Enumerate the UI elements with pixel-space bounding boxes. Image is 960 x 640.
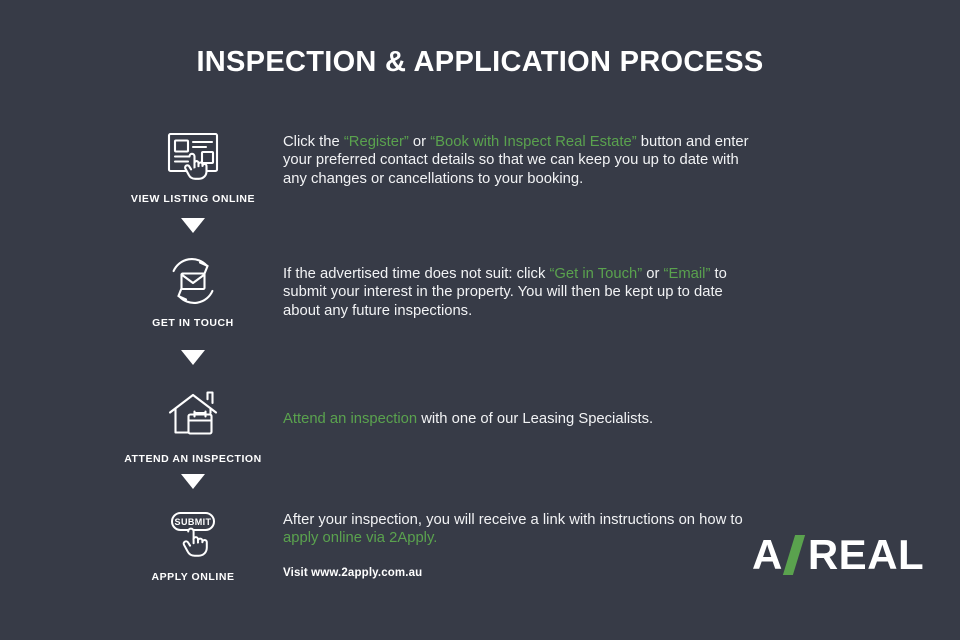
logo-letter-a: A — [752, 534, 783, 576]
down-triangle-arrow-1 — [118, 218, 268, 238]
process-infographic: INSPECTION & APPLICATION PROCESS — [0, 0, 960, 640]
step-4-text-part-0: After your inspection, you will receive … — [283, 512, 743, 528]
step-3-text: Attend an inspection with one of our Lea… — [283, 410, 763, 428]
step-2-text-part-1: “Get in Touch” — [549, 266, 642, 282]
logo-green-slash-icon — [783, 535, 805, 575]
down-triangle-arrow-glyph — [181, 474, 205, 489]
step-3-text-part-0: Attend an inspection — [283, 411, 417, 427]
step-1-text-part-1: “Register” — [344, 134, 409, 150]
step-4-text-part-1: apply online via 2Apply. — [283, 530, 437, 546]
step-3-label: ATTEND AN INSPECTION — [118, 453, 268, 465]
submit-button-pointer-icon: SUBMIT — [118, 506, 268, 562]
step-1-label: VIEW LISTING ONLINE — [118, 193, 268, 205]
listing-window-pointer-icon — [118, 128, 268, 184]
logo-word-real: REAL — [808, 534, 924, 576]
step-1-text-part-3: “Book with Inspect Real Estate” — [430, 134, 636, 150]
step-1-text-part-2: or — [409, 134, 430, 150]
step-2-icon-column: GET IN TOUCH — [118, 252, 268, 329]
step-2-text-part-0: If the advertised time does not suit: cl… — [283, 266, 549, 282]
step-4-text: After your inspection, you will receive … — [283, 511, 763, 580]
step-2-text-part-3: “Email” — [664, 266, 711, 282]
step-1-icon-column: VIEW LISTING ONLINE — [118, 128, 268, 205]
down-triangle-arrow-2 — [118, 350, 268, 370]
envelope-refresh-icon — [118, 252, 268, 308]
step-4-icon-column: SUBMIT APPLY ONLINE — [118, 506, 268, 583]
page-title: INSPECTION & APPLICATION PROCESS — [0, 46, 960, 79]
step-2-label: GET IN TOUCH — [118, 317, 268, 329]
step-1-text-part-0: Click the — [283, 134, 344, 150]
down-triangle-arrow-glyph — [181, 218, 205, 233]
house-calendar-icon — [118, 388, 268, 444]
areal-logo: A REAL — [752, 534, 924, 576]
step-2-text-part-2: or — [642, 266, 663, 282]
step-4-label: APPLY ONLINE — [118, 571, 268, 583]
visit-url-note: Visit www.2apply.com.au — [283, 566, 763, 580]
step-2-text: If the advertised time does not suit: cl… — [283, 265, 763, 320]
step-1-text: Click the “Register” or “Book with Inspe… — [283, 133, 763, 188]
down-triangle-arrow-glyph — [181, 350, 205, 365]
step-3-text-part-1: with one of our Leasing Specialists. — [417, 411, 653, 427]
step-3-icon-column: ATTEND AN INSPECTION — [118, 388, 268, 465]
svg-text:SUBMIT: SUBMIT — [175, 517, 212, 527]
down-triangle-arrow-3 — [118, 474, 268, 494]
